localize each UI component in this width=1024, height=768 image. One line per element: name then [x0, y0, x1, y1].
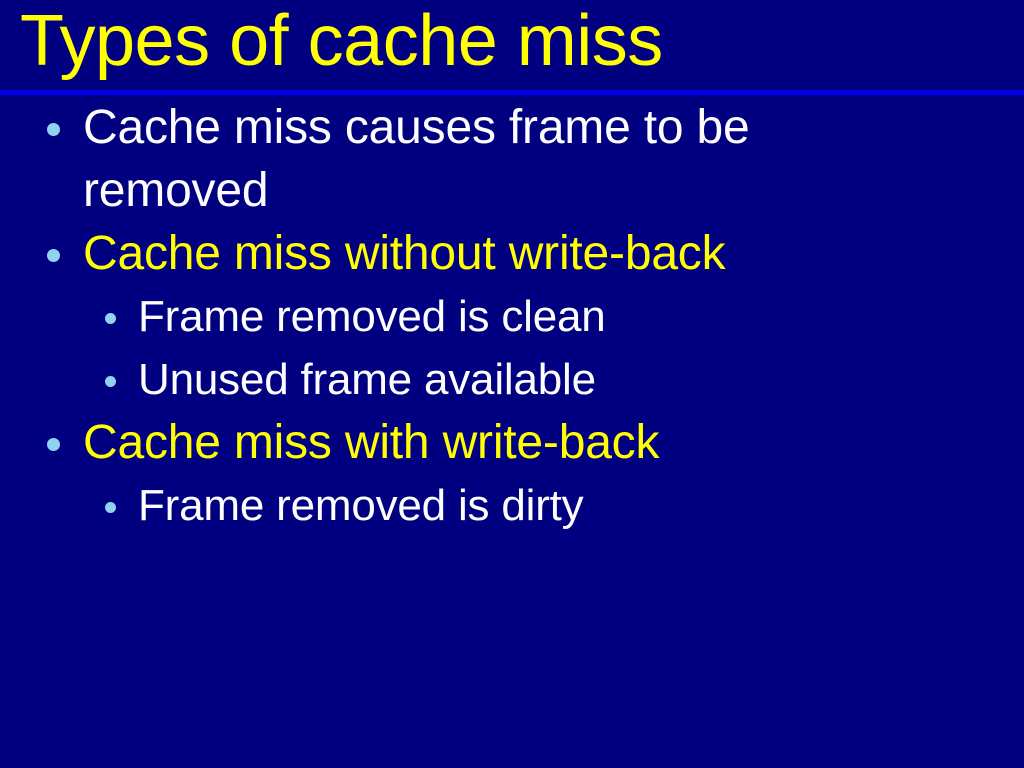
presentation-slide: Types of cache miss Cache miss causes fr… — [0, 0, 1024, 768]
title-divider-rule — [0, 90, 1024, 95]
list-item: Cache miss causes frame to be — [0, 96, 1024, 159]
bullet-dot-icon — [105, 502, 116, 513]
list-item: Cache miss without write-back — [0, 222, 1024, 285]
sub-list-item: Frame removed is dirty — [0, 474, 1024, 537]
sub-list-item: Unused frame available — [0, 348, 1024, 411]
list-item-label: Cache miss with write-back — [83, 416, 659, 469]
slide-body-bullet-list: Cache miss causes frame to be removed Ca… — [0, 96, 1024, 537]
bullet-dot-icon — [47, 249, 60, 262]
sub-list-item-label: Unused frame available — [138, 355, 596, 404]
list-item-label: Cache miss without write-back — [83, 227, 725, 280]
sub-list-item: Frame removed is clean — [0, 285, 1024, 348]
sub-list-item-label: Frame removed is dirty — [138, 481, 583, 530]
bullet-dot-icon — [47, 123, 60, 136]
page-title: Types of cache miss — [20, 0, 663, 86]
bullet-dot-icon — [105, 376, 116, 387]
slide-title-block: Types of cache miss — [0, 0, 1024, 93]
list-item-label: removed — [83, 164, 268, 217]
bullet-dot-icon — [47, 438, 60, 451]
list-item-label: Cache miss causes frame to be — [83, 101, 749, 154]
list-item: Cache miss with write-back — [0, 411, 1024, 474]
list-item-continuation: removed — [0, 159, 1024, 222]
bullet-dot-icon — [105, 313, 116, 324]
sub-list-item-label: Frame removed is clean — [138, 292, 606, 341]
